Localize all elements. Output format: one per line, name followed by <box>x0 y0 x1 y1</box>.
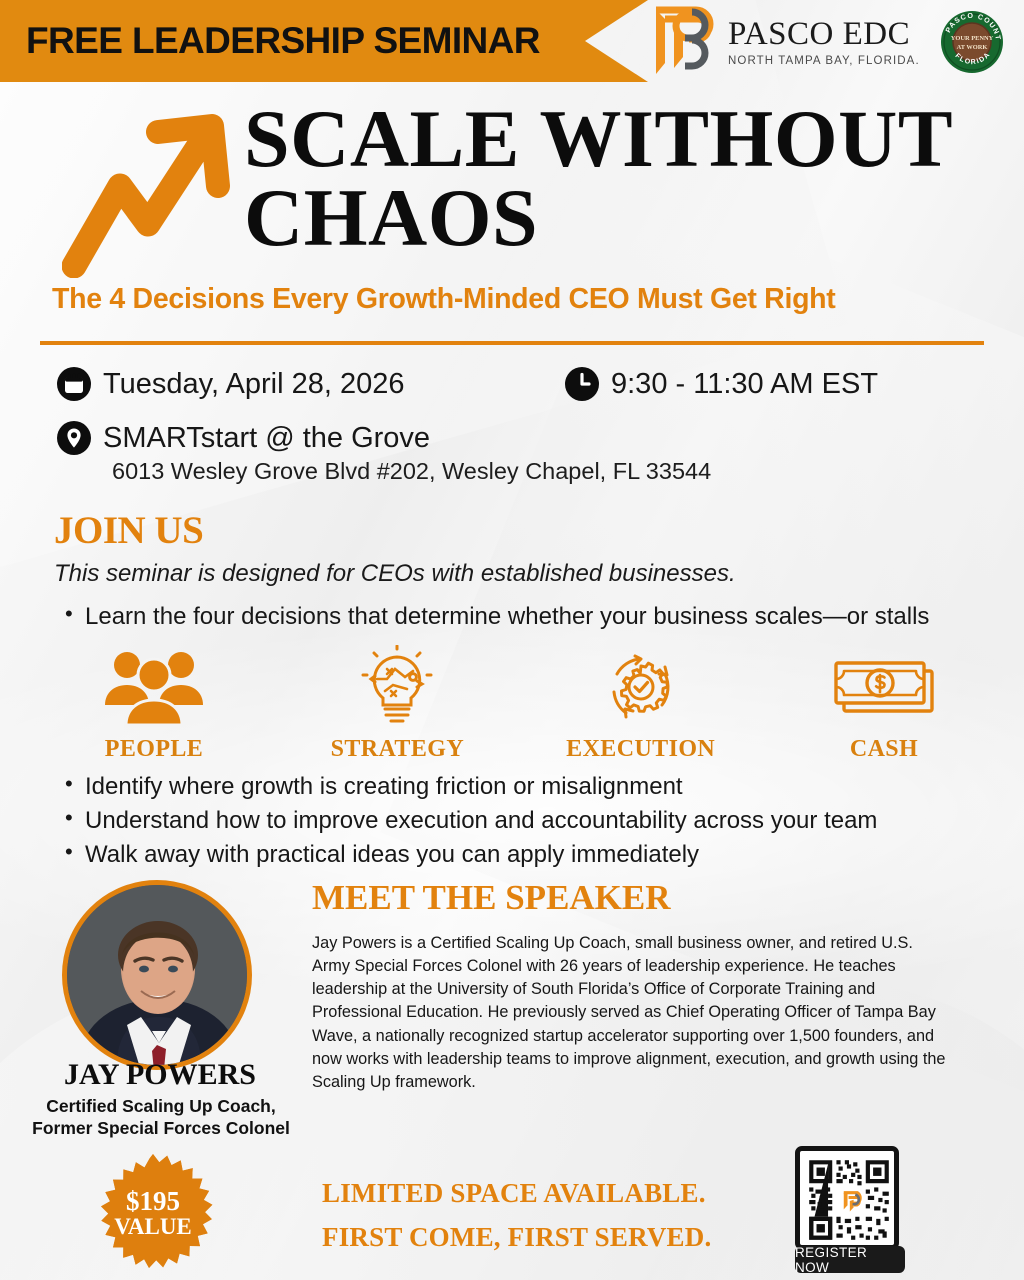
speaker-role: Certified Scaling Up Coach, Former Speci… <box>16 1096 306 1140</box>
speaker-bio: Jay Powers is a Certified Scaling Up Coa… <box>312 932 952 1094</box>
speaker-name: JAY POWERS <box>20 1058 300 1092</box>
event-details: Tuesday, April 28, 2026 9:30 - 11:30 AM … <box>56 366 996 485</box>
join-us-heading: JOIN US <box>54 508 1004 553</box>
title-line-2: CHAOS <box>244 179 974 258</box>
four-pillars: PEOPLE STRATEGY <box>54 645 984 763</box>
org-tagline: NORTH TAMPA BAY, FLORIDA. <box>728 55 920 67</box>
banner-label: FREE LEADERSHIP SEMINAR <box>0 20 540 62</box>
pillar-label: CASH <box>850 736 918 763</box>
svg-text:YOUR PENNY: YOUR PENNY <box>951 35 994 42</box>
speaker-role-line-2: Former Special Forces Colonel <box>16 1118 306 1140</box>
pillar-cash: CASH <box>784 645 984 763</box>
title-line-1: SCALE WITHOUT <box>244 100 974 179</box>
hero-section: SCALE WITHOUT CHAOS The 4 Decisions Ever… <box>0 100 1024 316</box>
logo-group: PASCO EDC NORTH TAMPA BAY, FLORIDA. PASC… <box>652 6 1004 78</box>
join-us-lead: This seminar is designed for CEOs with e… <box>54 560 1004 588</box>
event-address: 6013 Wesley Grove Blvd #202, Wesley Chap… <box>112 458 996 485</box>
page-subtitle: The 4 Decisions Every Growth-Minded CEO … <box>52 283 992 316</box>
cta-text: LIMITED SPACE AVAILABLE. FIRST COME, FIR… <box>322 1172 711 1259</box>
event-venue-row: SMARTstart @ the Grove <box>56 420 996 456</box>
event-time-row: 9:30 - 11:30 AM EST <box>564 366 878 402</box>
pillar-people: PEOPLE <box>54 645 254 763</box>
location-pin-icon <box>56 420 92 456</box>
flyer-page: FREE LEADERSHIP SEMINAR PASCO EDC NORTH … <box>0 0 1024 1280</box>
register-now-button[interactable]: REGISTER NOW <box>795 1246 905 1273</box>
divider-rule <box>40 341 984 345</box>
growth-arrow-icon <box>62 108 237 278</box>
pillar-label: STRATEGY <box>331 736 464 763</box>
cta-line-2: FIRST COME, FIRST SERVED. <box>322 1216 711 1260</box>
svg-text:AT WORK: AT WORK <box>956 44 987 51</box>
cta-line-1: LIMITED SPACE AVAILABLE. <box>322 1172 711 1216</box>
gear-check-cycle-icon <box>595 645 687 727</box>
list-item: Identify where growth is creating fricti… <box>54 770 1004 804</box>
pillar-execution: EXECUTION <box>541 645 741 763</box>
pillar-strategy: STRATEGY <box>297 645 497 763</box>
clock-icon <box>564 366 600 402</box>
speaker-role-line-1: Certified Scaling Up Coach, <box>16 1096 306 1118</box>
qr-code-icon <box>805 1156 893 1244</box>
page-title: SCALE WITHOUT CHAOS <box>244 100 974 257</box>
event-time: 9:30 - 11:30 AM EST <box>611 368 878 401</box>
people-icon <box>99 645 209 727</box>
speaker-avatar <box>62 880 252 1070</box>
pillar-label: EXECUTION <box>566 736 715 763</box>
pillar-label: PEOPLE <box>105 736 203 763</box>
benefits-list-top: Learn the four decisions that determine … <box>54 601 1004 633</box>
value-badge-text: $195 VALUE <box>92 1152 214 1274</box>
value-badge: $195 VALUE <box>92 1152 214 1274</box>
lightbulb-strategy-icon <box>351 645 443 727</box>
pasco-county-seal-icon: PASCO COUNTY FLORIDA YOUR PENNY AT WORK <box>940 10 1004 74</box>
list-item: Understand how to improve execution and … <box>54 804 1004 838</box>
free-seminar-banner: FREE LEADERSHIP SEMINAR <box>0 0 648 82</box>
event-date: Tuesday, April 28, 2026 <box>103 368 404 401</box>
badge-price: $195 <box>126 1187 180 1216</box>
benefits-list-bottom: Identify where growth is creating fricti… <box>54 770 1004 872</box>
speaker-headshot-image <box>67 885 247 1065</box>
qr-code[interactable] <box>795 1146 899 1250</box>
list-item: Learn the four decisions that determine … <box>54 601 1004 633</box>
banknotes-icon <box>828 645 940 727</box>
join-us-section: JOIN US This seminar is designed for CEO… <box>54 508 1004 633</box>
event-venue: SMARTstart @ the Grove <box>103 422 430 455</box>
org-name: PASCO EDC <box>728 18 920 51</box>
calendar-icon <box>56 366 92 402</box>
pasco-edc-logo-icon <box>652 6 714 78</box>
header-bar: FREE LEADERSHIP SEMINAR PASCO EDC NORTH … <box>0 0 1024 92</box>
meet-the-speaker-heading: MEET THE SPEAKER <box>312 878 671 918</box>
list-item: Walk away with practical ideas you can a… <box>54 838 1004 872</box>
event-date-row: Tuesday, April 28, 2026 9:30 - 11:30 AM … <box>56 366 996 402</box>
register-qr-block[interactable]: REGISTER NOW <box>795 1146 905 1273</box>
pasco-edc-wordmark: PASCO EDC NORTH TAMPA BAY, FLORIDA. <box>728 18 920 67</box>
badge-word: VALUE <box>114 1215 192 1239</box>
